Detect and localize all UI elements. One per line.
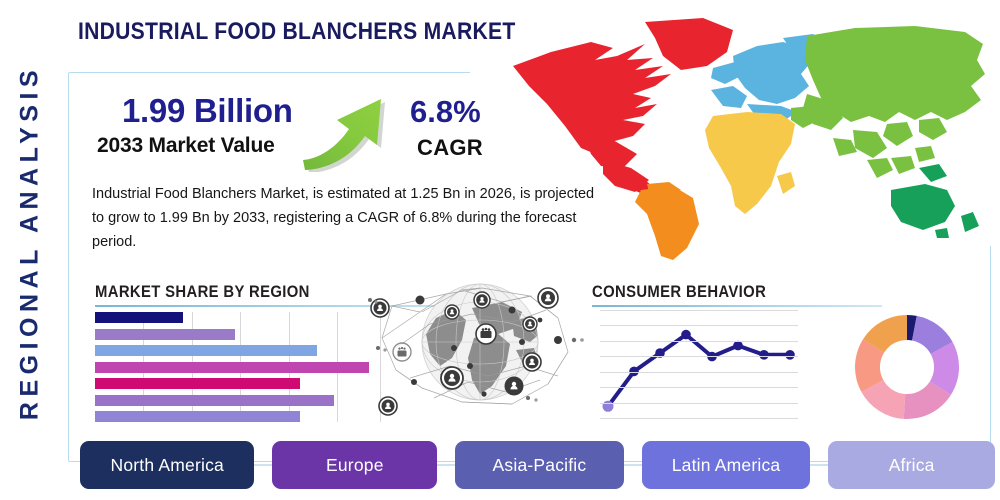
world-map-icon — [495, 8, 995, 266]
region-gap — [437, 465, 455, 466]
cagr-label: CAGR — [417, 135, 483, 161]
market-value-label: 2033 Market Value — [97, 134, 275, 158]
line-gridline — [600, 418, 798, 419]
region-gap — [810, 465, 828, 466]
bar-row — [95, 362, 380, 373]
bar-row — [95, 411, 380, 422]
region-gap — [624, 465, 642, 466]
key-stats: 1.99 Billion 2033 Market Value 6.8% CAGR — [92, 92, 512, 167]
side-label: REGIONAL ANALYSIS — [0, 0, 58, 500]
region-button-asia-pacific[interactable]: Asia-Pacific — [455, 441, 624, 489]
line-gridline — [600, 356, 798, 357]
region-button-latin-america[interactable]: Latin America — [642, 441, 811, 489]
market-share-bar-chart — [95, 312, 380, 422]
line-gridline — [600, 372, 798, 373]
bar-row — [95, 395, 380, 406]
bar-row — [95, 312, 380, 323]
donut-chart — [848, 308, 966, 426]
bar-chart-bars — [95, 312, 380, 422]
line-gridline — [600, 341, 798, 342]
line-gridline — [600, 310, 798, 311]
bar-row — [95, 378, 380, 389]
bar — [95, 345, 317, 356]
cagr-value: 6.8% — [410, 94, 481, 130]
region-button-north-america[interactable]: North America — [80, 441, 254, 489]
side-label-text: REGIONAL ANALYSIS — [16, 23, 45, 463]
region-button-africa[interactable]: Africa — [828, 441, 995, 489]
market-share-heading: MARKET SHARE BY REGION — [95, 283, 310, 302]
consumer-behavior-underline — [592, 305, 882, 307]
bar-row — [95, 329, 380, 340]
consumer-behavior-heading: CONSUMER BEHAVIOR — [592, 283, 766, 302]
infographic-root: REGIONAL ANALYSIS INDUSTRIAL FOOD BLANCH… — [0, 0, 1000, 500]
bar — [95, 378, 300, 389]
line-chart-gridlines — [600, 310, 798, 418]
region-gap — [254, 465, 272, 466]
growth-arrow-icon — [297, 87, 407, 172]
page-title: INDUSTRIAL FOOD BLANCHERS MARKET — [78, 18, 515, 46]
region-button-europe[interactable]: Europe — [272, 441, 437, 489]
bar — [95, 411, 300, 422]
bar — [95, 362, 369, 373]
line-gridline — [600, 325, 798, 326]
globe-network-icon — [362, 262, 597, 422]
line-gridline — [600, 403, 798, 404]
bar — [95, 329, 235, 340]
line-gridline — [600, 387, 798, 388]
consumer-behavior-line-chart — [600, 310, 798, 418]
region-button-row: North AmericaEuropeAsia-PacificLatin Ame… — [80, 441, 995, 489]
bar — [95, 395, 334, 406]
market-value: 1.99 Billion — [122, 92, 293, 130]
bar — [95, 312, 183, 323]
bar-row — [95, 345, 380, 356]
